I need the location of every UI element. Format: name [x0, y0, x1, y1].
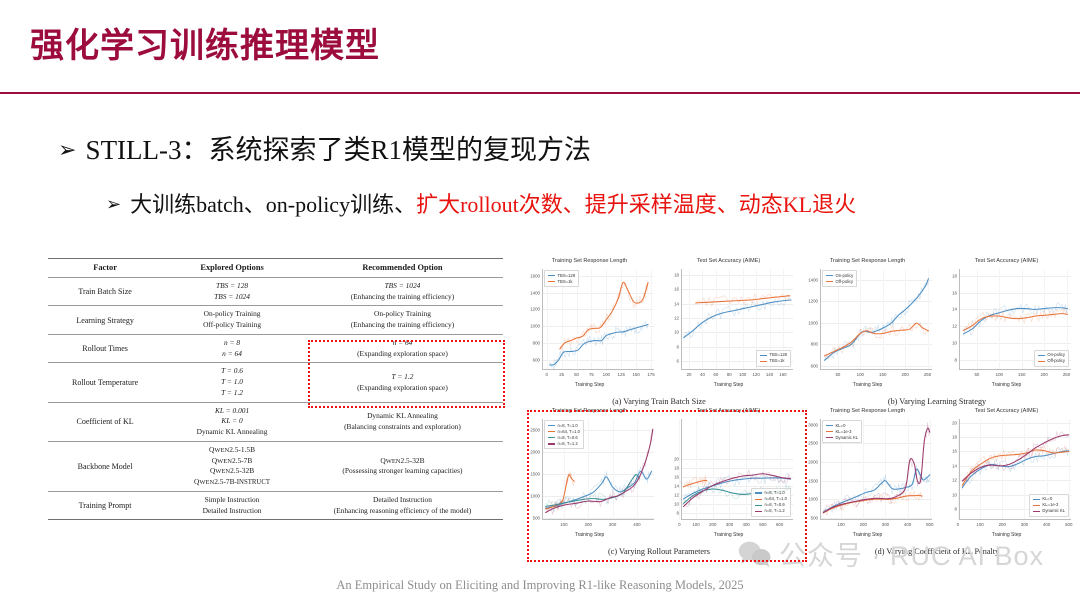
y-axis-tick-label: 1400	[808, 277, 818, 282]
legend-item: TBS=1k	[760, 358, 787, 364]
legend-item: Dynamic KL	[826, 435, 858, 441]
x-axis-tick-label: 100	[837, 522, 844, 527]
legend-color-swatch	[755, 511, 762, 512]
y-axis-tick-label: 14	[674, 484, 679, 489]
x-axis-tick-label: 100	[996, 372, 1003, 377]
cell-recommended-option: Detailed Instruction(Enhancing reasoning…	[302, 491, 503, 519]
option-item: QWEN2.5-7B-INSTRUCT	[164, 477, 300, 488]
chart-title: Training Set Response Length	[798, 408, 937, 414]
option-item: KL = 0	[164, 416, 300, 427]
legend-color-swatch	[826, 275, 833, 276]
option-item: QWEN2.5-1.5B	[164, 445, 300, 456]
x-axis-tick-label: 250	[1063, 372, 1070, 377]
legend-color-swatch	[755, 492, 762, 493]
legend-color-swatch	[548, 431, 555, 432]
legend-color-swatch	[548, 443, 555, 444]
chart-c-right: Test Set Accuracy (AIME)8101214161820010…	[659, 408, 798, 542]
legend-item: Dynamic KL	[1033, 508, 1065, 514]
cell-explored-options: n = 8n = 64	[162, 334, 302, 362]
chart-title: Training Set Response Length	[520, 258, 659, 264]
y-axis-tick-label: 1500	[530, 471, 540, 476]
bullet-level2-text-plain: 大训练batch、on-policy训练、	[130, 192, 416, 217]
y-axis-tick-label: 12	[952, 478, 957, 483]
chart-title: Training Set Response Length	[798, 258, 937, 264]
x-axis-tick-label: 60	[713, 372, 718, 377]
recommended-item: (Balancing constraints and exploration)	[304, 422, 501, 433]
wechat-icon	[738, 540, 772, 568]
series-raw-line	[824, 279, 928, 361]
x-axis-label: Training Step	[520, 382, 659, 388]
x-axis-tick-label: 600	[776, 522, 783, 527]
chart-legend: TBS=128TBS=1k	[544, 270, 579, 287]
plot-area: 50010001500200025003000100200300400500KL…	[820, 419, 932, 520]
chart-a-left: Training Set Response Length600800100012…	[520, 258, 659, 392]
x-axis-tick-label: 80	[727, 372, 732, 377]
x-axis-tick-label: 200	[860, 522, 867, 527]
x-axis-tick-label: 100	[976, 522, 983, 527]
cell-explored-options: T = 0.6T = 1.0T = 1.2	[162, 363, 302, 402]
legend-item: TBS=1k	[548, 279, 575, 285]
y-axis-tick-label: 16	[952, 449, 957, 454]
legend-color-swatch	[826, 431, 833, 432]
legend-color-swatch	[548, 425, 555, 426]
series-raw-line	[696, 294, 790, 306]
y-axis-tick-label: 1400	[530, 290, 540, 295]
recommended-item: (Possessing stronger learning capacities…	[304, 466, 501, 477]
series-line	[550, 325, 648, 365]
figure-a-panels: Training Set Response Length600800100012…	[520, 258, 798, 392]
recommended-item: QWEN2.5-32B	[304, 456, 501, 467]
chart-b-right: Test Set Accuracy (AIME)8101214161850100…	[937, 258, 1076, 392]
y-axis-tick-label: 20	[674, 457, 679, 462]
option-item: n = 8	[164, 338, 300, 349]
x-axis-tick-label: 150	[632, 372, 639, 377]
cell-explored-options: KL = 0.001KL = 0Dynamic KL Annealing	[162, 402, 302, 441]
option-item: T = 0.6	[164, 366, 300, 377]
footer-citation: An Empirical Study on Eliciting and Impr…	[0, 578, 1080, 593]
y-axis-tick-label: 16	[674, 475, 679, 480]
bullet-arrow-icon: ➢	[106, 194, 121, 216]
x-axis-label: Training Step	[659, 382, 798, 388]
legend-color-swatch	[755, 505, 762, 506]
option-item: QWEN2.5-32B	[164, 466, 300, 477]
series-line	[962, 450, 1068, 485]
y-axis-tick-label: 6	[677, 359, 679, 364]
chart-title: Test Set Accuracy (AIME)	[659, 258, 798, 264]
y-axis-tick-label: 8	[677, 344, 679, 349]
recommended-item: (Enhancing the training efficiency)	[304, 292, 501, 303]
legend-color-swatch	[826, 281, 833, 282]
chart-d-right: Test Set Accuracy (AIME)8101214161820010…	[937, 408, 1076, 542]
chart-title: Training Set Response Length	[520, 408, 659, 414]
recommended-item: Dynamic KL Annealing	[304, 411, 501, 422]
legend-color-swatch	[826, 425, 833, 426]
x-axis-tick-label: 200	[709, 522, 716, 527]
x-axis-tick-label: 150	[879, 372, 886, 377]
x-axis-tick-label: 300	[882, 522, 889, 527]
x-axis-tick-label: 0	[546, 372, 548, 377]
chart-legend: n=8, T=1.0n=64, T=1.0n=8, T=0.6n=8, T=1.…	[544, 420, 584, 449]
cell-recommended-option: Dynamic KL Annealing(Balancing constrain…	[302, 402, 503, 441]
y-axis-tick-label: 10	[674, 330, 679, 335]
y-axis-tick-label: 14	[952, 307, 957, 312]
legend-label: n=8, T=1.2	[558, 441, 578, 447]
x-axis-tick-label: 20	[687, 372, 692, 377]
recommended-item: On-policy Training	[304, 309, 501, 320]
legend-color-swatch	[1033, 511, 1040, 512]
figure-b: Training Set Response Length600800100012…	[798, 256, 1076, 406]
y-axis-tick-label: 20	[952, 420, 957, 425]
x-axis-tick-label: 200	[999, 522, 1006, 527]
y-axis-tick-label: 8	[955, 357, 957, 362]
recommended-item: TBS = 1024	[304, 281, 501, 292]
y-axis-tick-label: 12	[674, 316, 679, 321]
x-axis-tick-label: 100	[857, 372, 864, 377]
table-row: Training PromptSimple InstructionDetaile…	[48, 491, 503, 519]
plot-area: 6008001000120014001600025507510012515017…	[542, 269, 654, 370]
legend-color-swatch	[760, 355, 767, 356]
y-axis-tick-label: 10	[952, 341, 957, 346]
option-item: QWEN2.5-7B	[164, 456, 300, 467]
chart-legend: n=8, T=1.0n=64, T=1.0n=8, T=0.6n=8, T=1.…	[751, 488, 791, 517]
col-header-explored: Explored Options	[162, 259, 302, 278]
y-axis-tick-label: 1000	[530, 493, 540, 498]
y-axis-tick-label: 2500	[530, 427, 540, 432]
legend-color-swatch	[548, 437, 555, 438]
legend-label: TBS=1k	[558, 279, 573, 285]
chart-legend: KL=0KL=1e-3Dynamic KL	[1029, 494, 1069, 517]
plot-area: 8101214161850100150200250On-policyOff-po…	[959, 269, 1071, 370]
y-axis-tick-label: 16	[674, 287, 679, 292]
table-body: Train Batch SizeTBS = 128TBS = 1024TBS =…	[48, 278, 503, 520]
bullet-level1: ➢STILL-3：系统探索了类R1模型的复现方法	[58, 134, 591, 166]
y-axis-tick-label: 14	[674, 301, 679, 306]
chart-title: Test Set Accuracy (AIME)	[659, 408, 798, 414]
bullet-arrow-icon: ➢	[58, 137, 77, 164]
slide-root: 强化学习训练推理模型 ➢STILL-3：系统探索了类R1模型的复现方法 ➢大训练…	[0, 0, 1080, 607]
figure-grid: Training Set Response Length600800100012…	[520, 256, 1076, 564]
cell-recommended-option: TBS = 1024(Enhancing the training effici…	[302, 278, 503, 306]
cell-factor: Coefficient of KL	[48, 402, 162, 441]
x-axis-label: Training Step	[937, 382, 1076, 388]
table-row: Coefficient of KLKL = 0.001KL = 0Dynamic…	[48, 402, 503, 441]
option-item: T = 1.2	[164, 388, 300, 399]
bullet-level2: ➢大训练batch、on-policy训练、扩大rollout次数、提升采样温度…	[106, 192, 856, 218]
x-axis-tick-label: 200	[1040, 372, 1047, 377]
chart-c-left: Training Set Response Length500100015002…	[520, 408, 659, 542]
cell-explored-options: On-policy TrainingOff-policy Training	[162, 306, 302, 334]
x-axis-tick-label: 120	[752, 372, 759, 377]
y-axis-tick-label: 500	[811, 516, 818, 521]
factors-table-wrapper: Factor Explored Options Recommended Opti…	[48, 258, 503, 520]
figure-b-caption: (b) Varying Learning Strategy	[798, 397, 1076, 406]
recommended-item: (Expanding exploration space)	[304, 383, 501, 394]
plot-area: 60080010001200140050100150200250On-polic…	[820, 269, 932, 370]
legend-label: Off-policy	[1047, 358, 1065, 364]
cell-recommended-option: QWEN2.5-32B(Possessing stronger learning…	[302, 441, 503, 491]
recommended-item: (Expanding exploration space)	[304, 349, 501, 360]
cell-recommended-option: n = 64(Expanding exploration space)	[302, 334, 503, 362]
y-axis-tick-label: 1600	[530, 273, 540, 278]
recommended-item: Detailed Instruction	[304, 495, 501, 506]
x-axis-tick-label: 100	[692, 522, 699, 527]
x-axis-tick-label: 400	[633, 522, 640, 527]
x-axis-tick-label: 50	[835, 372, 840, 377]
option-item: KL = 0.001	[164, 406, 300, 417]
series-raw-line	[684, 475, 707, 488]
series-raw-line	[560, 282, 648, 350]
figure-a: Training Set Response Length600800100012…	[520, 256, 798, 406]
y-axis-tick-label: 600	[811, 363, 818, 368]
y-axis-tick-label: 12	[674, 493, 679, 498]
recommended-item: (Enhancing the training efficiency)	[304, 320, 501, 331]
y-axis-tick-label: 3000	[808, 422, 818, 427]
cell-explored-options: Simple InstructionDetailed Instruction	[162, 491, 302, 519]
table-row: Rollout Timesn = 8n = 64n = 64(Expanding…	[48, 334, 503, 362]
option-item: Detailed Instruction	[164, 506, 300, 517]
x-axis-tick-label: 400	[743, 522, 750, 527]
recommended-item: T = 1.2	[304, 372, 501, 383]
cell-factor: Train Batch Size	[48, 278, 162, 306]
cell-explored-options: TBS = 128TBS = 1024	[162, 278, 302, 306]
y-axis-tick-label: 18	[952, 273, 957, 278]
chart-d-left: Training Set Response Length500100015002…	[798, 408, 937, 542]
watermark: 公众号 · RUC AI Box	[738, 534, 1044, 573]
recommended-item: (Enhancing reasoning efficiency of the m…	[304, 506, 501, 517]
option-item: TBS = 128	[164, 281, 300, 292]
y-axis-tick-label: 18	[952, 435, 957, 440]
x-axis-tick-label: 200	[585, 522, 592, 527]
bullet-level2-text-highlight: 扩大rollout次数、提升采样温度、动态KL退火	[416, 192, 856, 217]
y-axis-tick-label: 10	[674, 502, 679, 507]
col-header-factor: Factor	[48, 259, 162, 278]
cell-explored-options: QWEN2.5-1.5BQWEN2.5-7BQWEN2.5-32BQWEN2.5…	[162, 441, 302, 491]
legend-item: n=8, T=1.2	[548, 441, 580, 447]
cell-recommended-option: On-policy Training(Enhancing the trainin…	[302, 306, 503, 334]
x-axis-tick-label: 0	[957, 522, 959, 527]
x-axis-tick-label: 40	[700, 372, 705, 377]
legend-label: Dynamic KL	[836, 435, 859, 441]
x-axis-tick-label: 400	[1043, 522, 1050, 527]
title-divider	[0, 92, 1080, 94]
series-line	[824, 323, 928, 356]
figure-d-panels: Training Set Response Length500100015002…	[798, 408, 1076, 542]
cell-factor: Training Prompt	[48, 491, 162, 519]
legend-label: TBS=1k	[769, 358, 784, 364]
y-axis-tick-label: 14	[952, 463, 957, 468]
figure-row-top: Training Set Response Length600800100012…	[520, 256, 1076, 406]
legend-item: n=8, T=1.2	[755, 508, 787, 514]
x-axis-tick-label: 25	[559, 372, 564, 377]
option-item: n = 64	[164, 349, 300, 360]
y-axis-tick-label: 16	[952, 290, 957, 295]
y-axis-tick-label: 18	[674, 272, 679, 277]
plot-area: 81012141618200100200300400500600n=8, T=1…	[681, 419, 793, 520]
cell-factor: Learning Strategy	[48, 306, 162, 334]
cell-factor: Rollout Times	[48, 334, 162, 362]
figure-b-panels: Training Set Response Length600800100012…	[798, 258, 1076, 392]
y-axis-tick-label: 1000	[530, 324, 540, 329]
option-item: Dynamic KL Annealing	[164, 427, 300, 438]
factors-table: Factor Explored Options Recommended Opti…	[48, 258, 503, 520]
x-axis-tick-label: 250	[924, 372, 931, 377]
cell-factor: Backbone Model	[48, 441, 162, 491]
legend-color-swatch	[1033, 499, 1040, 500]
table-row: Learning StrategyOn-policy TrainingOff-p…	[48, 306, 503, 334]
y-axis-tick-label: 2500	[808, 441, 818, 446]
chart-legend: KL=0KL=1e-3Dynamic KL	[822, 420, 862, 443]
legend-color-swatch	[548, 275, 555, 276]
legend-label: n=8, T=1.2	[764, 508, 784, 514]
x-axis-tick-label: 500	[759, 522, 766, 527]
option-item: Off-policy Training	[164, 320, 300, 331]
chart-legend: On-policyOff-policy	[1034, 350, 1069, 367]
x-axis-tick-label: 200	[901, 372, 908, 377]
cell-factor: Rollout Temperature	[48, 363, 162, 402]
legend-item: Off-policy	[1038, 358, 1065, 364]
table-row: Train Batch SizeTBS = 128TBS = 1024TBS =…	[48, 278, 503, 306]
x-axis-tick-label: 400	[904, 522, 911, 527]
series-line	[962, 435, 1068, 481]
y-axis-tick-label: 1500	[808, 478, 818, 483]
x-axis-tick-label: 140	[766, 372, 773, 377]
legend-color-swatch	[826, 437, 833, 438]
x-axis-tick-label: 0	[678, 522, 680, 527]
table-row: Backbone ModelQWEN2.5-1.5BQWEN2.5-7BQWEN…	[48, 441, 503, 491]
x-axis-tick-label: 100	[739, 372, 746, 377]
legend-color-swatch	[548, 281, 555, 282]
y-axis-tick-label: 1000	[808, 497, 818, 502]
chart-title: Test Set Accuracy (AIME)	[937, 258, 1076, 264]
cell-recommended-option: T = 1.2(Expanding exploration space)	[302, 363, 503, 402]
x-axis-tick-label: 100	[603, 372, 610, 377]
y-axis-tick-label: 10	[952, 492, 957, 497]
x-axis-tick-label: 100	[560, 522, 567, 527]
legend-color-swatch	[1033, 505, 1040, 506]
x-axis-tick-label: 300	[1021, 522, 1028, 527]
figure-c-panels: Training Set Response Length500100015002…	[520, 408, 798, 542]
y-axis-tick-label: 800	[811, 342, 818, 347]
plot-area: 5001000150020002500100200300400n=8, T=1.…	[542, 419, 654, 520]
chart-legend: On-policyOff-policy	[822, 270, 857, 287]
legend-item: Off-policy	[826, 279, 853, 285]
bullet-level1-text: STILL-3：系统探索了类R1模型的复现方法	[86, 135, 592, 165]
legend-color-swatch	[1038, 355, 1045, 356]
recommended-item: n = 64	[304, 338, 501, 349]
figure-a-caption: (a) Varying Train Batch Size	[520, 397, 798, 406]
table-header-row: Factor Explored Options Recommended Opti…	[48, 259, 503, 278]
x-axis-tick-label: 300	[726, 522, 733, 527]
legend-color-swatch	[755, 499, 762, 500]
option-item: Simple Instruction	[164, 495, 300, 506]
y-axis-tick-label: 500	[533, 515, 540, 520]
x-axis-tick-label: 500	[1065, 522, 1072, 527]
y-axis-tick-label: 2000	[808, 460, 818, 465]
table-head: Factor Explored Options Recommended Opti…	[48, 259, 503, 278]
chart-legend: TBS=128TBS=1k	[756, 350, 791, 367]
option-item: On-policy Training	[164, 309, 300, 320]
watermark-text: 公众号 · RUC AI Box	[779, 534, 1044, 573]
y-axis-tick-label: 1200	[808, 299, 818, 304]
option-item: T = 1.0	[164, 377, 300, 388]
y-axis-tick-label: 1000	[808, 320, 818, 325]
plot-area: 68101214161820406080100120140160TBS=128T…	[681, 269, 793, 370]
x-axis-tick-label: 160	[779, 372, 786, 377]
chart-a-right: Test Set Accuracy (AIME)6810121416182040…	[659, 258, 798, 392]
col-header-recommended: Recommended Option	[302, 259, 503, 278]
series-line	[684, 300, 791, 338]
page-title: 强化学习训练推理模型	[30, 18, 380, 67]
x-axis-tick-label: 150	[1018, 372, 1025, 377]
x-axis-label: Training Step	[520, 532, 659, 538]
x-axis-tick-label: 300	[609, 522, 616, 527]
chart-title: Test Set Accuracy (AIME)	[937, 408, 1076, 414]
legend-color-swatch	[1038, 361, 1045, 362]
y-axis-tick-label: 2000	[530, 449, 540, 454]
table-row: Rollout TemperatureT = 0.6T = 1.0T = 1.2…	[48, 363, 503, 402]
y-axis-tick-label: 1200	[530, 307, 540, 312]
y-axis-tick-label: 600	[533, 357, 540, 362]
legend-label: Dynamic KL	[1042, 508, 1065, 514]
legend-label: Off-policy	[836, 279, 854, 285]
option-item: TBS = 1024	[164, 292, 300, 303]
chart-b-left: Training Set Response Length600800100012…	[798, 258, 937, 392]
legend-color-swatch	[760, 361, 767, 362]
y-axis-tick-label: 800	[533, 341, 540, 346]
x-axis-tick-label: 50	[574, 372, 579, 377]
plot-area: 81012141618200100200300400500KL=0KL=1e-3…	[959, 419, 1071, 520]
series-raw-line	[824, 323, 928, 359]
y-axis-tick-label: 12	[952, 324, 957, 329]
x-axis-tick-label: 175	[647, 372, 654, 377]
x-axis-tick-label: 125	[618, 372, 625, 377]
x-axis-label: Training Step	[798, 382, 937, 388]
y-axis-tick-label: 18	[674, 466, 679, 471]
y-axis-tick-label: 8	[955, 507, 957, 512]
x-axis-tick-label: 50	[974, 372, 979, 377]
x-axis-tick-label: 500	[926, 522, 933, 527]
x-axis-tick-label: 75	[589, 372, 594, 377]
